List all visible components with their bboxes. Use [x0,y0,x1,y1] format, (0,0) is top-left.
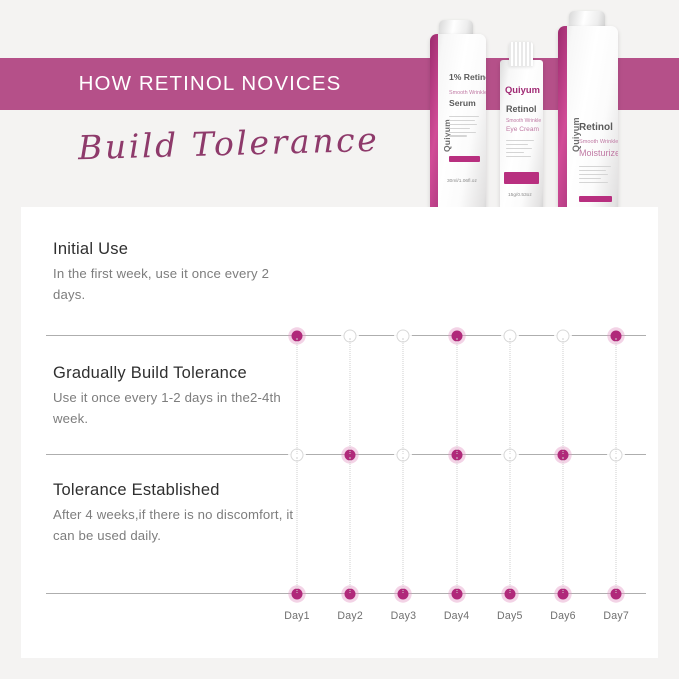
product-serum-bottle: Quiyum 1% Retinol Smooth Wrinkle Serum 3… [430,34,486,228]
connector-day4-seg2 [456,457,457,593]
eyecream-description-lines [506,140,534,159]
eyecream-type: Eye Cream [506,126,539,133]
infographic-page: HOW RETINOL NOVICES Build Tolerance Quiy… [0,0,679,679]
day-label-day1: Day1 [284,610,310,622]
step-1-description: In the first week, use it once every 2 d… [53,264,303,305]
serum-title: 1% Retinol [449,72,486,82]
moisturizer-type: Moisturizer [579,148,618,158]
step-3-description: After 4 weeks,if there is no discomfort,… [53,505,303,546]
eyecream-cap [509,42,533,66]
day-label-day3: Day3 [391,610,417,622]
connector-day7-seg2 [616,457,617,593]
connector-day5-seg2 [509,457,510,593]
serum-type: Serum [449,98,476,108]
day-label-day5: Day5 [497,610,523,622]
timeline-row-established [46,593,646,595]
moisturizer-stripe [558,26,567,228]
connector-day7-seg1 [616,338,617,454]
eyecream-brand: Quiyum [505,84,540,95]
page-title: HOW RETINOL NOVICES [0,58,420,110]
product-eyecream-tube: Quiyum Retinol Smooth Wrinkle Eye Cream … [500,60,543,216]
serum-stripe [430,34,438,228]
eyecream-title: Retinol [506,104,537,114]
step-tolerance-established: Tolerance Established After 4 weeks,if t… [53,481,303,546]
eyecream-subtitle: Smooth Wrinkle [506,118,541,124]
day-label-day6: Day6 [550,610,576,622]
connector-day3-seg1 [403,338,404,454]
connector-day6-seg2 [563,457,564,593]
moisturizer-subtitle: Smooth Wrinkle [579,139,618,145]
eyecream-body: Quiyum Retinol Smooth Wrinkle Eye Cream … [500,60,543,216]
moisturizer-description-lines [579,166,611,185]
step-2-description: Use it once every 1-2 days in the2-4th w… [53,388,303,429]
step-initial-use: Initial Use In the first week, use it on… [53,240,303,305]
day-label-day7: Day7 [603,610,629,622]
product-moisturizer-bottle: Quiyum Retinol Smooth Wrinkle Moisturize… [558,26,618,228]
connector-day1-seg2 [297,457,298,593]
timeline-row-gradual [46,454,646,456]
serum-subtitle: Smooth Wrinkle [449,90,486,96]
step-2-title: Gradually Build Tolerance [53,364,303,383]
content-card: Initial Use In the first week, use it on… [21,207,658,658]
serum-volume: 30ml/1.06fl.oz [447,179,477,184]
moisturizer-badge [579,196,612,202]
moisturizer-body: Quiyum Retinol Smooth Wrinkle Moisturize… [558,26,618,228]
connector-day6-seg1 [563,338,564,454]
script-subtitle: Build Tolerance [78,120,380,167]
serum-description-lines [449,116,479,139]
step-1-title: Initial Use [53,240,303,259]
day-label-day2: Day2 [337,610,363,622]
day-label-day4: Day4 [444,610,470,622]
serum-body: Quiyum 1% Retinol Smooth Wrinkle Serum 3… [430,34,486,228]
connector-day2-seg1 [350,338,351,454]
connector-day1-seg1 [297,338,298,454]
connector-day3-seg2 [403,457,404,593]
step-3-title: Tolerance Established [53,481,303,500]
serum-badge [449,156,480,162]
moisturizer-title: Retinol [579,122,613,133]
step-gradually-build-tolerance: Gradually Build Tolerance Use it once ev… [53,364,303,429]
connector-day5-seg1 [509,338,510,454]
product-images: Quiyum 1% Retinol Smooth Wrinkle Serum 3… [424,18,654,230]
timeline-row-initial-use [46,335,646,337]
eyecream-badge [504,172,539,184]
eyecream-volume: 15g/0.53oz [508,193,532,198]
connector-day2-seg2 [350,457,351,593]
connector-day4-seg1 [456,338,457,454]
